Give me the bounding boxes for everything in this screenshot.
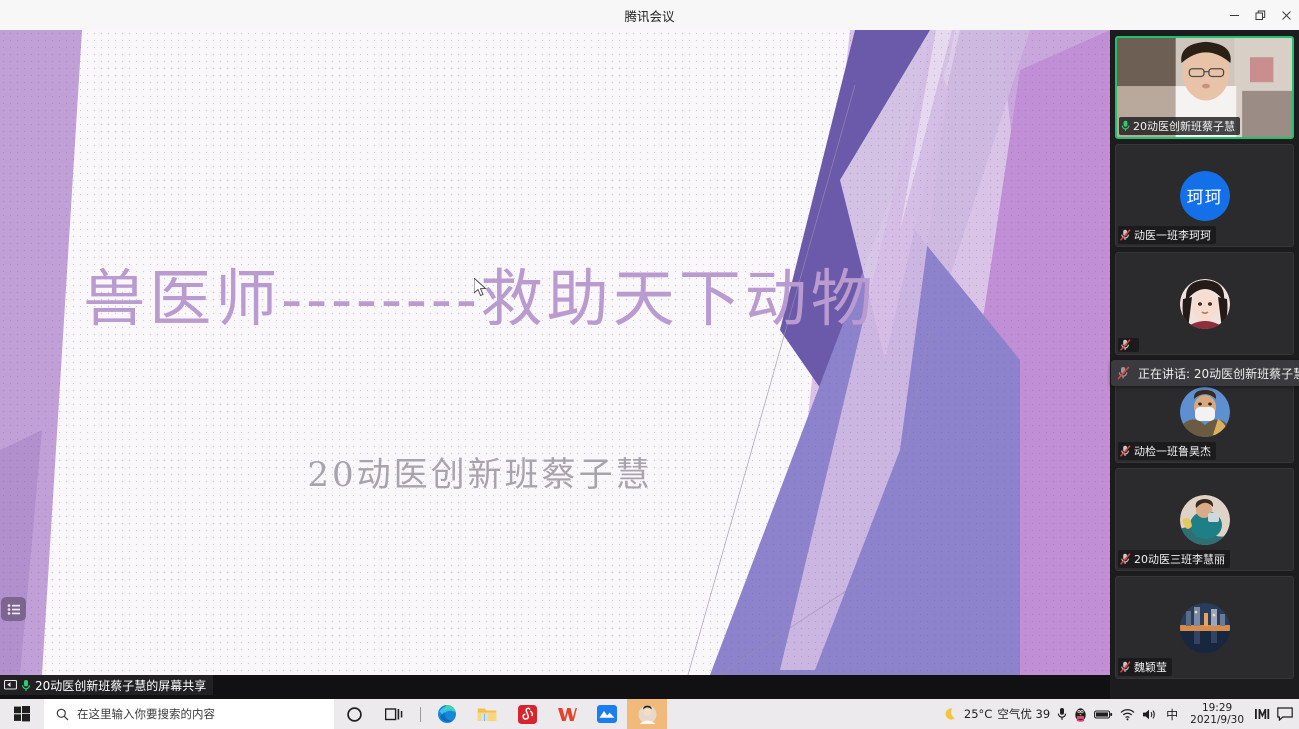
search-placeholder: 在这里输入你要搜索的内容 <box>77 706 215 722</box>
ime-indicator[interactable]: 中 <box>1164 706 1180 723</box>
wifi-icon[interactable] <box>1120 708 1135 721</box>
search-icon <box>56 708 69 721</box>
avatar <box>1180 603 1230 653</box>
taskbar-app-icons <box>334 699 667 729</box>
wps-office-icon[interactable] <box>547 699 587 729</box>
weather-widget[interactable]: 25°C 空气优 39 <box>944 706 1050 722</box>
microphone-muted-icon <box>1120 229 1131 241</box>
microphone-muted-icon <box>1117 366 1130 380</box>
music-widget-icon[interactable] <box>1254 707 1270 721</box>
participant-name-badge: 动检一班鲁昊杰 <box>1118 442 1216 460</box>
microphone-tray-icon[interactable] <box>1057 707 1067 721</box>
tencent-meeting-icon[interactable] <box>587 699 627 729</box>
speaking-tooltip: 正在讲话: 20动医创新班蔡子慧: <box>1111 360 1299 386</box>
action-center-icon[interactable] <box>1277 707 1293 721</box>
microphone-muted-icon <box>1120 445 1131 457</box>
participant-tile[interactable]: 20动医创新班蔡子慧 <box>1115 36 1294 139</box>
screen-share-icon <box>4 680 17 691</box>
participant-name-badge: 动医一班李珂珂 <box>1118 226 1216 244</box>
tencent-meeting-window: 腾讯会议 <box>0 0 1299 729</box>
avatar <box>1180 387 1230 437</box>
microphone-muted-icon <box>1120 339 1131 351</box>
volume-icon[interactable] <box>1142 708 1157 721</box>
slide-shape-hairlines <box>0 30 1110 675</box>
participant-name-badge: 魏颖莹 <box>1118 658 1172 676</box>
participant-name: 动检一班鲁昊杰 <box>1134 443 1211 459</box>
microphone-icon <box>1121 120 1130 132</box>
qq-penguin-icon[interactable] <box>1074 707 1087 722</box>
window-controls <box>1221 0 1299 30</box>
battery-icon[interactable] <box>1094 709 1113 720</box>
restore-button[interactable] <box>1247 0 1273 30</box>
slide-list-button[interactable] <box>1 597 26 621</box>
taskbar-divider <box>420 707 421 722</box>
participant-tile[interactable]: 魏颖莹 <box>1115 576 1294 679</box>
avatar <box>1180 279 1230 329</box>
mouse-cursor-icon <box>474 278 488 298</box>
microphone-muted-icon <box>1120 553 1131 565</box>
participant-name-badge: 20动医三班李慧丽 <box>1118 550 1230 568</box>
minimize-button[interactable] <box>1221 0 1247 30</box>
temperature-label: 25°C <box>964 707 992 721</box>
share-footer-strip: 20动医创新班蔡子慧的屏幕共享 <box>0 675 1110 699</box>
netease-music-icon[interactable] <box>507 699 547 729</box>
participant-name-badge: 20动医创新班蔡子慧 <box>1119 117 1240 135</box>
list-icon <box>7 604 21 615</box>
taskbar-search-box[interactable]: 在这里输入你要搜索的内容 <box>44 699 334 729</box>
windows-taskbar: 在这里输入你要搜索的内容 <box>0 699 1299 729</box>
microsoft-edge-icon[interactable] <box>427 699 467 729</box>
avatar: 珂珂 <box>1180 171 1230 221</box>
participant-name: 20动医创新班蔡子慧 <box>1133 118 1235 134</box>
screen-share-area[interactable]: 兽医师--------救助天下动物 20动医创新班蔡子慧 <box>0 30 1110 699</box>
microphone-muted-icon <box>1120 661 1131 673</box>
air-quality-label: 空气优 39 <box>997 706 1050 722</box>
participant-tile[interactable]: 20动医三班李慧丽 <box>1115 468 1294 571</box>
avatar-initials: 珂珂 <box>1180 171 1230 221</box>
meeting-body: 兽医师--------救助天下动物 20动医创新班蔡子慧 <box>0 30 1299 699</box>
moon-icon <box>944 707 959 722</box>
microphone-icon <box>21 679 31 692</box>
title-bar: 腾讯会议 <box>0 0 1299 30</box>
file-explorer-icon[interactable] <box>467 699 507 729</box>
participant-name: 20动医三班李慧丽 <box>1134 551 1225 567</box>
windows-logo-icon <box>14 706 30 722</box>
participant-name-badge <box>1118 338 1139 352</box>
task-view-icon[interactable] <box>374 699 414 729</box>
participant-name: 动医一班李珂珂 <box>1134 227 1211 243</box>
system-tray: 25°C 空气优 39 <box>944 699 1299 729</box>
clock-time: 19:29 <box>1202 702 1232 714</box>
share-label-text: 20动医创新班蔡子慧的屏幕共享 <box>35 677 206 694</box>
clock-date: 2021/9/30 <box>1190 714 1244 726</box>
user-avatar-app-icon[interactable] <box>627 699 667 729</box>
close-button[interactable] <box>1273 0 1299 30</box>
slide-subtitle: 20动医创新班蔡子慧 <box>0 447 960 496</box>
windows-start-button[interactable] <box>0 699 44 729</box>
participant-tile[interactable] <box>1115 252 1294 355</box>
avatar <box>1180 495 1230 545</box>
cortana-icon[interactable] <box>334 699 374 729</box>
powerpoint-slide[interactable]: 兽医师--------救助天下动物 20动医创新班蔡子慧 <box>0 30 1110 675</box>
speaking-tooltip-text: 正在讲话: 20动医创新班蔡子慧: <box>1138 365 1299 382</box>
window-title: 腾讯会议 <box>624 6 674 25</box>
share-status-label: 20动医创新班蔡子慧的屏幕共享 <box>0 675 213 695</box>
participant-tile[interactable]: 珂珂 动医一班李珂珂 <box>1115 144 1294 247</box>
participant-name: 魏颖莹 <box>1134 659 1167 675</box>
taskbar-clock[interactable]: 19:29 2021/9/30 <box>1187 702 1247 726</box>
